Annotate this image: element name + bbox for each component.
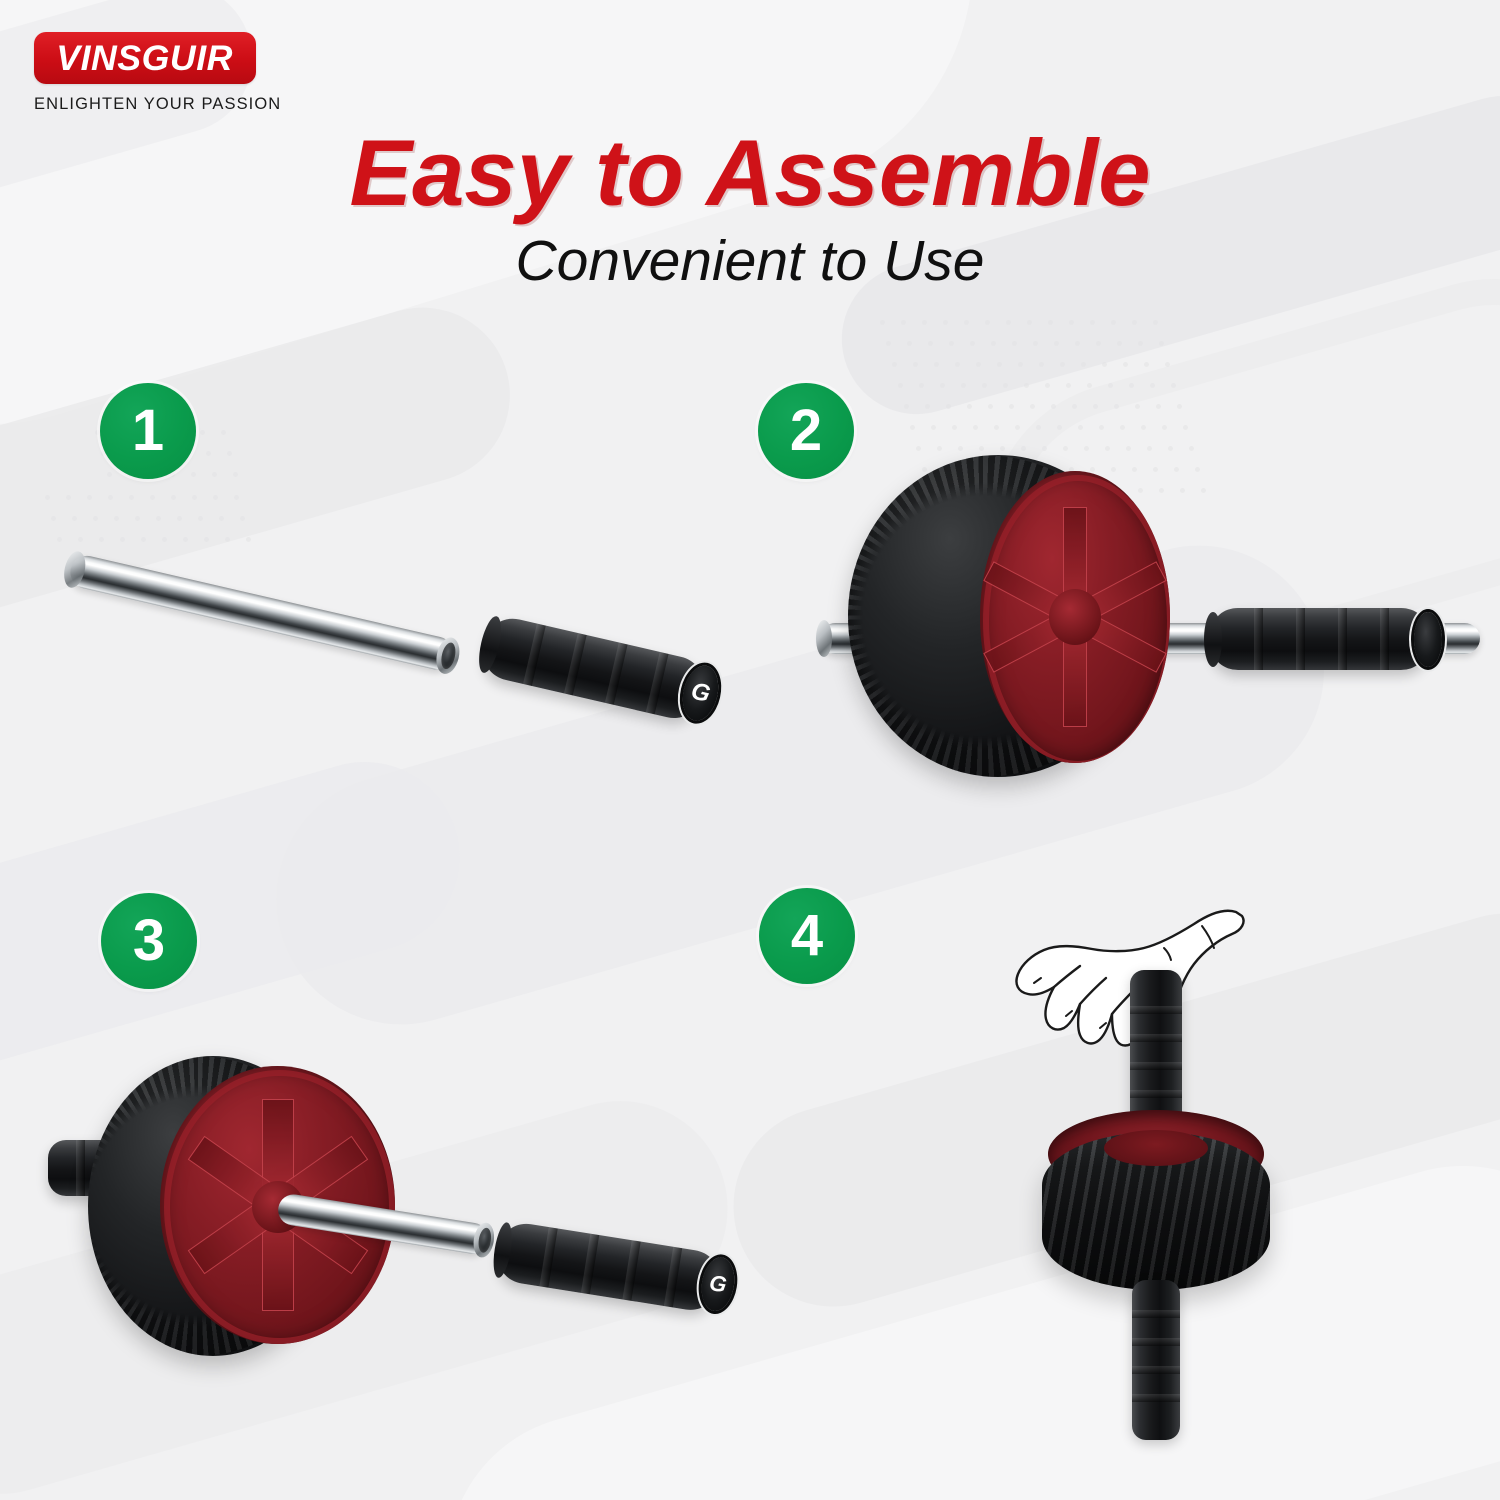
step-badge-4: 4 bbox=[759, 888, 855, 984]
hand-illustration-icon bbox=[988, 882, 1268, 1082]
foam-handle bbox=[496, 1220, 721, 1313]
lower-handle bbox=[1132, 1280, 1180, 1440]
handle-collar bbox=[1204, 612, 1222, 667]
chrome-rod bbox=[67, 553, 456, 673]
hub-center-socket bbox=[1104, 1130, 1208, 1166]
step-badge-2: 2 bbox=[758, 383, 854, 479]
step-badge-3: 3 bbox=[101, 893, 197, 989]
page-subtitle: Convenient to Use bbox=[0, 233, 1500, 290]
endcap-logo-icon: G bbox=[689, 679, 713, 707]
logo-wordmark: VINSGUIR bbox=[57, 41, 234, 76]
foam-handle bbox=[480, 614, 706, 723]
rod-left-end bbox=[816, 620, 832, 657]
foam-handle-group-1: G bbox=[457, 602, 759, 792]
foam-handle-group-3: G bbox=[479, 1207, 774, 1369]
chrome-rod bbox=[276, 1192, 490, 1256]
endcap-logo-icon: G bbox=[708, 1272, 728, 1296]
step-three-illustration: G bbox=[30, 1010, 770, 1350]
foam-handle bbox=[1212, 608, 1427, 670]
wheel-hub bbox=[980, 471, 1170, 763]
step-badge-1: 1 bbox=[100, 383, 196, 479]
handle-endcap bbox=[1414, 612, 1442, 667]
page-title: Easy to Assemble bbox=[0, 126, 1500, 220]
brand-tagline: ENLIGHTEN YOUR PASSION bbox=[34, 95, 299, 114]
chrome-rod-group bbox=[47, 522, 464, 729]
ab-wheel bbox=[848, 455, 1170, 777]
hub-center bbox=[1049, 589, 1101, 645]
step-two-illustration bbox=[760, 380, 1500, 800]
brand-logo: VINSGUIR ENLIGHTEN YOUR PASSION bbox=[34, 32, 299, 114]
logo-badge: VINSGUIR bbox=[34, 32, 256, 84]
step-one-illustration: G bbox=[0, 0, 760, 780]
step-four-illustration bbox=[960, 860, 1400, 1460]
ab-wheel-assembled bbox=[1042, 1110, 1270, 1300]
